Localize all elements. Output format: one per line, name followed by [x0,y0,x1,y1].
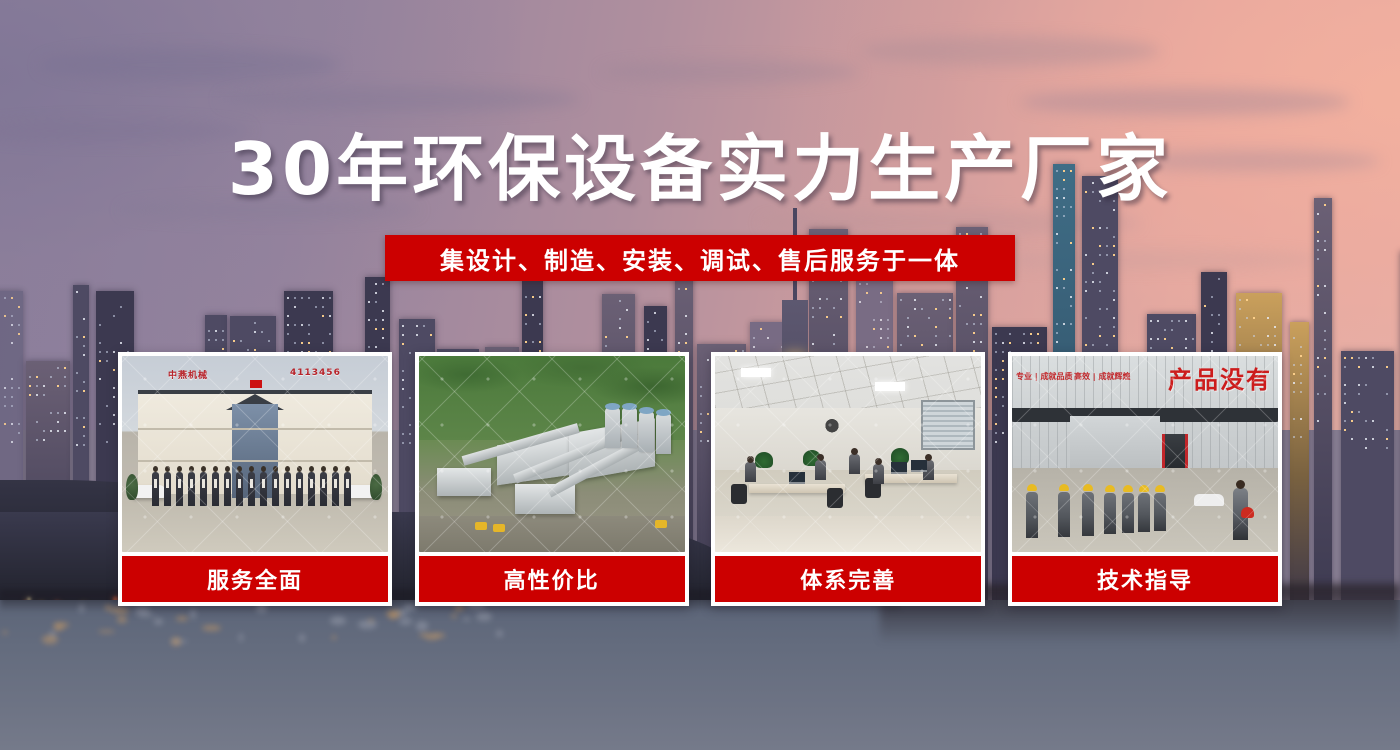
feature-card[interactable]: 体系完善 [711,352,985,606]
skyline-building [1290,322,1309,600]
water-reflection [299,634,305,642]
photo-window-blinds [921,400,975,450]
water-reflection [171,637,182,646]
water-reflection [330,616,346,626]
photo-worker [1122,493,1134,533]
water-reflection [332,635,336,641]
photo-person [308,472,315,506]
cloud-shape [600,60,860,84]
water-reflection [202,625,221,631]
water-reflection [42,635,58,644]
water-reflection [135,607,151,614]
photo-worker [1154,493,1166,531]
card-label-bar: 高性价比 [419,556,685,602]
card-photo-office-interior [715,356,981,552]
feature-card[interactable]: 高性价比 [415,352,689,606]
photo-wall-slogan: 产品没有 [1168,360,1272,395]
photo-wall-slogan-small: 高效 | 成就辉煌 [1074,372,1131,382]
page-title: 30年环保设备实力生产厂家 [0,132,1400,208]
photo-phone-number: 4113456 [290,368,341,378]
photo-flag [250,380,262,388]
cloud-shape [220,86,580,112]
card-label-text: 技术指导 [1097,563,1193,595]
photo-person [188,472,195,506]
subtitle-text: 集设计、制造、安装、调试、售后服务于一体 [440,241,960,276]
card-photo-company-building: 中燕机械 4113456 [122,356,388,552]
water-reflection [434,633,445,639]
cloud-shape [1020,88,1350,116]
photo-person [260,472,267,506]
photo-person [344,472,351,506]
photo-person [248,472,255,506]
banner-stage: 30年环保设备实力生产厂家 集设计、制造、安装、调试、售后服务于一体 中燕机械 … [0,0,1400,750]
photo-company-sign: 中燕机械 [168,368,208,381]
water-reflection [476,612,491,621]
photo-worker [1082,492,1094,535]
photo-worker [1104,493,1116,535]
card-label-bar: 体系完善 [715,556,981,602]
photo-person [296,472,303,506]
photo-person [152,472,159,506]
photo-road [419,516,685,552]
photo-car [1194,494,1224,506]
photo-person [212,472,219,506]
card-label-text: 高性价比 [504,563,600,595]
photo-worker [1058,492,1070,537]
card-photo-workers: 产品没有 专业 | 成就品质 高效 | 成就辉煌 [1012,356,1278,552]
photo-person [272,472,279,506]
photo-gate [1070,416,1160,476]
water-reflection [137,614,156,617]
cloud-shape [980,250,1320,270]
cloud-shape [40,48,340,82]
photo-red-helmet [1241,507,1254,518]
water-reflection [358,620,377,629]
water-reflection [451,614,457,618]
water-reflection [98,630,114,633]
water-reflection [154,618,163,625]
photo-person [320,472,327,506]
water-reflection [399,618,412,625]
photo-worker [1026,492,1038,538]
water-reflection [2,631,8,634]
card-label-text: 体系完善 [800,563,896,595]
photo-floor [715,516,981,552]
card-label-bar: 技术指导 [1012,556,1278,602]
water-reflection [190,609,195,619]
skyline-building [1341,351,1394,600]
water-reflection [176,616,188,620]
water-reflection [463,617,470,621]
feature-card[interactable]: 中燕机械 4113456 服务全面 [118,352,392,606]
water-reflection [389,613,398,619]
water-reflection [79,604,84,613]
photo-worker [1138,493,1150,532]
skyline-building [1314,198,1332,600]
card-label-bar: 服务全面 [122,556,388,602]
photo-person [176,472,183,506]
feature-card[interactable]: 产品没有 专业 | 成就品质 高效 | 成就辉煌 技术指导 [1008,352,1282,606]
photo-person [224,472,231,506]
photo-person [284,472,291,506]
water-reflection [54,625,63,631]
water-reflection [496,630,503,638]
photo-person [200,472,207,506]
water-reflection [111,607,129,614]
photo-person [164,472,171,506]
subtitle-banner: 集设计、制造、安装、调试、售后服务于一体 [385,235,1015,281]
water-reflection [117,616,126,624]
photo-person [332,472,339,506]
water-reflection [416,621,428,630]
photo-person [236,472,243,506]
cloud-shape [860,36,1160,66]
photo-wall-slogan-small: 专业 | 成就品质 [1016,372,1073,382]
photo-wall-logo [819,414,845,440]
water-reflection [239,633,243,642]
card-label-text: 服务全面 [207,563,303,595]
river-water [0,600,1400,750]
feature-card-list: 中燕机械 4113456 服务全面 [118,352,1282,606]
card-photo-plant-aerial [419,356,685,552]
